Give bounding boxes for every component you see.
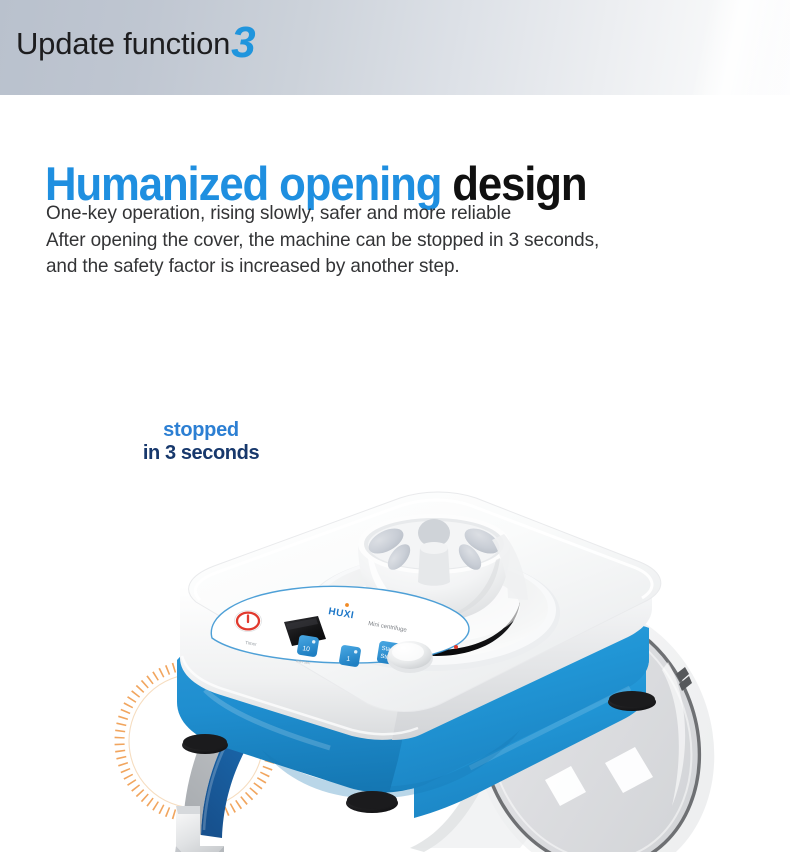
header-title: Update function 3 [16, 18, 256, 62]
header-title-number: 3 [231, 21, 255, 65]
stopped-badge-line-1: stopped [131, 419, 271, 442]
power-button[interactable] [235, 611, 262, 632]
body-line-1: One-key operation, rising slowly, safer … [46, 200, 599, 227]
illustration-stage: HUXI Mini centrifuge Timer min sec 10 [0, 290, 790, 852]
stopped-badge-line-2: in 3 seconds [131, 442, 271, 465]
body-line-2: After opening the cover, the machine can… [46, 227, 599, 254]
page-header-band: Update function 3 [0, 0, 790, 95]
stopped-badge: stopped in 3 seconds [131, 419, 271, 465]
svg-text:10: 10 [302, 645, 311, 653]
lid-release-knob[interactable] [387, 641, 433, 673]
body-line-3: and the safety factor is increased by an… [46, 253, 599, 280]
step-10-button[interactable]: 10 [297, 635, 320, 658]
step-1-button[interactable]: 1 [339, 645, 362, 668]
page-body-copy: One-key operation, rising slowly, safer … [46, 200, 599, 280]
header-title-label: Update function [16, 28, 230, 59]
